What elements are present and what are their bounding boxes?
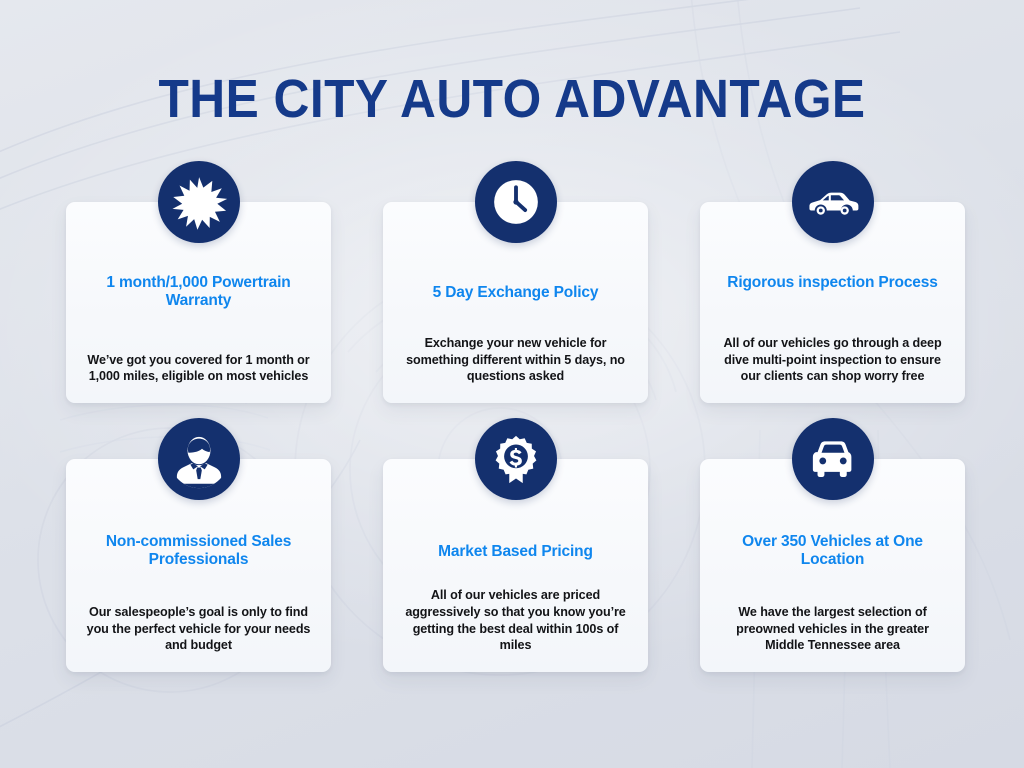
card-heading: Over 350 Vehicles at One Location bbox=[714, 533, 951, 570]
advantage-card-sales-professionals[interactable]: Non-commissioned Sales Professionals Our… bbox=[66, 459, 331, 672]
card-body: We have the largest selection of preowne… bbox=[714, 604, 951, 656]
clock-icon bbox=[475, 161, 557, 243]
businessperson-icon bbox=[158, 418, 240, 500]
advantage-card-market-pricing[interactable]: Market Based Pricing All of our vehicles… bbox=[383, 459, 648, 672]
advantage-infographic: THE CITY AUTO ADVANTAGE 1 month/1,000 Po… bbox=[0, 0, 1024, 768]
card-heading: Non-commissioned Sales Professionals bbox=[80, 533, 317, 570]
card-heading: 5 Day Exchange Policy bbox=[397, 284, 634, 302]
car-front-icon bbox=[792, 418, 874, 500]
card-body: All of our vehicles are priced aggressiv… bbox=[397, 587, 634, 656]
advantage-card-inspection[interactable]: Rigorous inspection Process All of our v… bbox=[700, 202, 965, 403]
card-body: All of our vehicles go through a deep di… bbox=[714, 335, 951, 387]
advantage-card-exchange-policy[interactable]: 5 Day Exchange Policy Exchange your new … bbox=[383, 202, 648, 403]
card-body: We’ve got you covered for 1 month or 1,0… bbox=[80, 352, 317, 387]
page-title: THE CITY AUTO ADVANTAGE bbox=[41, 72, 983, 126]
dollar-badge-icon bbox=[475, 418, 557, 500]
advantage-card-inventory[interactable]: Over 350 Vehicles at One Location We hav… bbox=[700, 459, 965, 672]
car-side-icon bbox=[792, 161, 874, 243]
card-body: Exchange your new vehicle for something … bbox=[397, 335, 634, 387]
advantage-cards-grid: 1 month/1,000 Powertrain Warranty We’ve … bbox=[66, 202, 978, 672]
card-heading: Rigorous inspection Process bbox=[714, 274, 951, 292]
card-heading: Market Based Pricing bbox=[397, 543, 634, 561]
advantage-card-warranty[interactable]: 1 month/1,000 Powertrain Warranty We’ve … bbox=[66, 202, 331, 403]
card-heading: 1 month/1,000 Powertrain Warranty bbox=[80, 274, 317, 311]
starburst-icon bbox=[158, 161, 240, 243]
card-body: Our salespeople’s goal is only to find y… bbox=[80, 604, 317, 656]
